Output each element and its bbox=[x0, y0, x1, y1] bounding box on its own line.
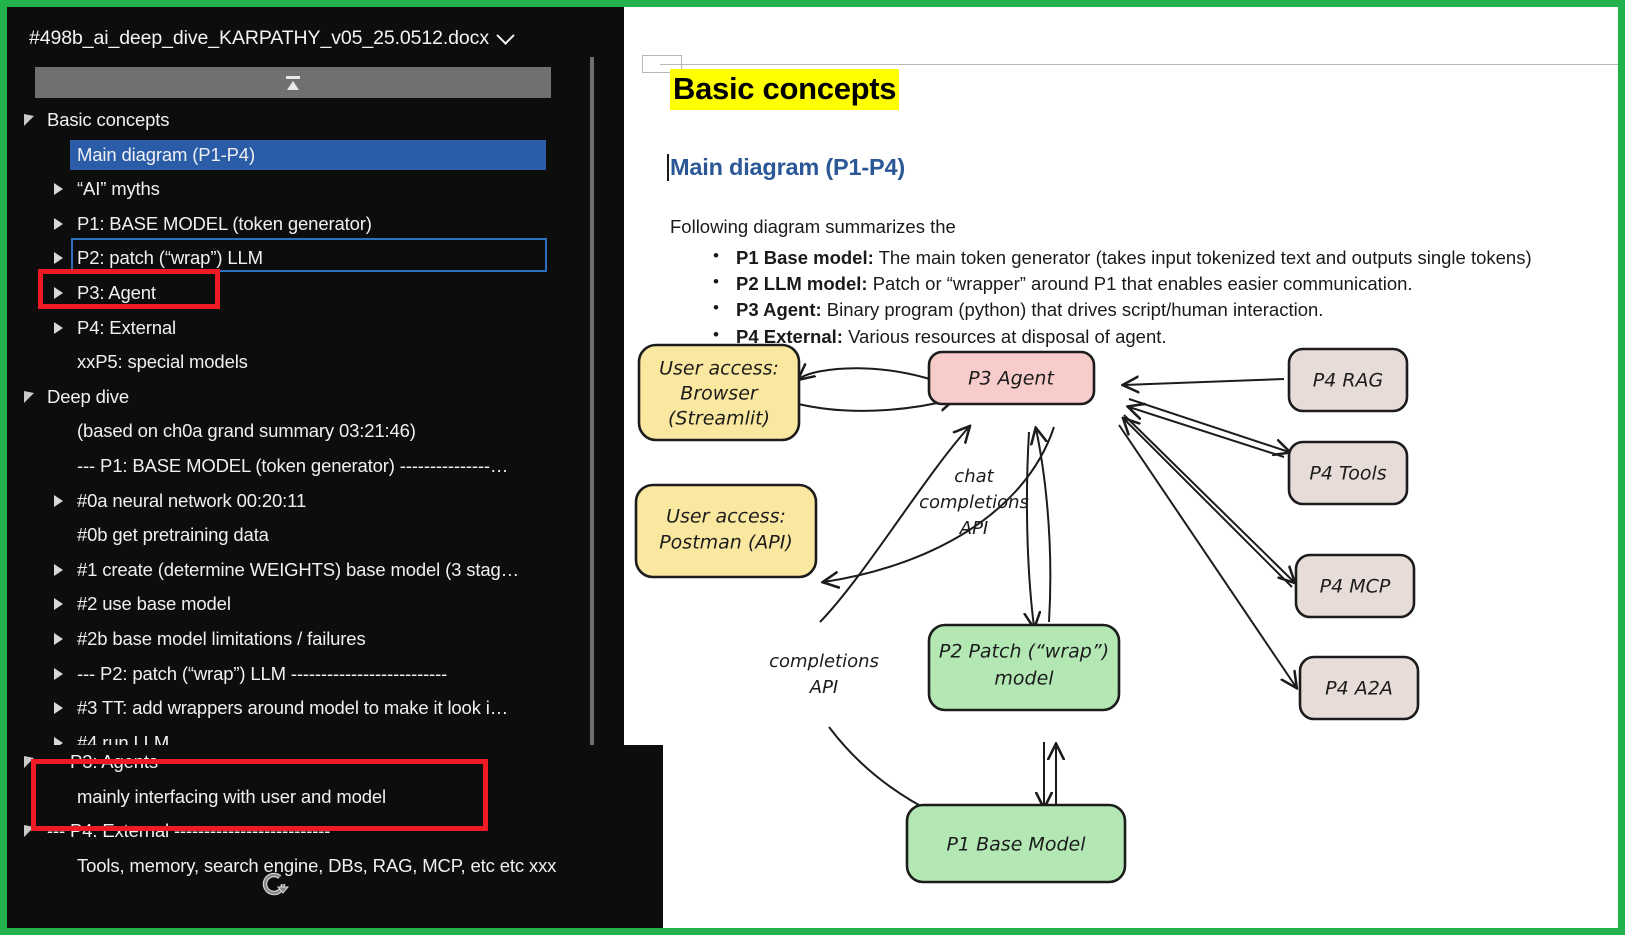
document-name-label: #498b_ai_deep_dive_KARPATHY_v05_25.0512.… bbox=[29, 27, 489, 50]
page-title: Basic concepts bbox=[670, 69, 899, 110]
nav-item-20[interactable]: mainly interfacing with user and model bbox=[7, 780, 663, 815]
nav-item-21[interactable]: --- P4: External -----------------------… bbox=[7, 814, 663, 849]
nav-item-12[interactable]: #0b get pretraining data bbox=[7, 518, 624, 553]
nav-item-10[interactable]: --- P1: BASE MODEL (token generator) ---… bbox=[7, 449, 624, 484]
bullet-term: P2 LLM model: bbox=[736, 273, 868, 294]
nav-item-22[interactable]: Tools, memory, search engine, DBs, RAG, … bbox=[7, 849, 663, 884]
nav-item-8[interactable]: Deep dive bbox=[7, 380, 624, 415]
twisty-collapsed-icon[interactable] bbox=[49, 318, 69, 338]
nav-item-label: #0b get pretraining data bbox=[77, 526, 269, 545]
nav-item-label: Deep dive bbox=[47, 388, 129, 407]
bullet-text: The main token generator (takes input to… bbox=[874, 247, 1532, 268]
navigation-scrollbar-thumb[interactable] bbox=[590, 57, 594, 747]
twisty-collapsed-icon[interactable] bbox=[49, 248, 69, 268]
nav-item-label: #2b base model limitations / failures bbox=[77, 630, 366, 649]
chevron-down-icon[interactable] bbox=[496, 26, 514, 44]
twisty-collapsed-icon[interactable] bbox=[49, 698, 69, 718]
nav-item-label: xxP5: special models bbox=[77, 353, 248, 372]
nav-item-9[interactable]: (based on ch0a grand summary 03:21:46) bbox=[7, 414, 624, 449]
application-window: #498b_ai_deep_dive_KARPATHY_v05_25.0512.… bbox=[0, 0, 1625, 935]
nav-item-0[interactable]: Basic concepts bbox=[7, 103, 624, 138]
twisty-collapsed-icon[interactable] bbox=[49, 179, 69, 199]
node-postman-line1: User access: bbox=[666, 506, 786, 528]
nav-item-label: P4: External bbox=[77, 319, 176, 338]
edge-browser-to-agent bbox=[794, 399, 954, 411]
edge-agent-to-p2 bbox=[1027, 432, 1034, 627]
bullet-term: P3 Agent: bbox=[736, 299, 822, 320]
bullet-text: Patch or “wrapper” around P1 that enable… bbox=[868, 273, 1413, 294]
node-postman-line2: Postman (API) bbox=[659, 532, 793, 554]
ruler-line bbox=[660, 64, 1625, 65]
nav-item-label: Basic concepts bbox=[47, 111, 169, 130]
node-a2a-label: P4 A2A bbox=[1325, 678, 1393, 700]
diagram-edges bbox=[794, 368, 1296, 837]
nav-item-6[interactable]: P4: External bbox=[7, 311, 624, 346]
nav-item-17[interactable]: #3 TT: add wrappers around model to make… bbox=[7, 691, 624, 726]
intro-paragraph: Following diagram summarizes the bbox=[670, 216, 1625, 238]
collapse-all-icon bbox=[285, 76, 301, 90]
bullet-list: P1 Base model: The main token generator … bbox=[670, 245, 1625, 350]
nav-item-2[interactable]: “AI” myths bbox=[7, 172, 624, 207]
twisty-collapsed-icon[interactable] bbox=[49, 629, 69, 649]
twisty-expanded-icon[interactable] bbox=[21, 387, 41, 407]
edge-postman-to-agent bbox=[820, 427, 969, 622]
document-pane[interactable]: Basic concepts Main diagram (P1-P4) Foll… bbox=[624, 7, 1625, 935]
node-p2-line2: model bbox=[994, 668, 1054, 690]
nav-item-label: P3: Agent bbox=[77, 284, 156, 303]
nav-item-label: mainly interfacing with user and model bbox=[77, 788, 386, 807]
edge-tools-to-agent bbox=[1129, 407, 1284, 457]
nav-item-label: --- P3: Agents -------------------------… bbox=[47, 753, 325, 772]
label-completions-api-line1: completions bbox=[769, 651, 879, 672]
node-agent-label: P3 Agent bbox=[968, 368, 1055, 390]
edge-p2-to-agent bbox=[1036, 429, 1050, 622]
nav-item-label: (based on ch0a grand summary 03:21:46) bbox=[77, 422, 416, 441]
nav-item-14[interactable]: #2 use base model bbox=[7, 587, 624, 622]
nav-item-5[interactable]: P3: Agent bbox=[7, 276, 624, 311]
diagram-svg: User access: Browser (Streamlit) User ac… bbox=[624, 337, 1625, 935]
node-browser-line3: (Streamlit) bbox=[668, 408, 770, 430]
nav-item-label: --- P1: BASE MODEL (token generator) ---… bbox=[77, 457, 508, 476]
node-p2-line1: P2 Patch (“wrap”) bbox=[939, 641, 1109, 663]
nav-item-13[interactable]: #1 create (determine WEIGHTS) base model… bbox=[7, 553, 624, 588]
twisty-collapsed-icon[interactable] bbox=[49, 283, 69, 303]
heading1-wrapper: Basic concepts bbox=[670, 69, 1625, 110]
node-browser-line2: Browser bbox=[680, 383, 759, 405]
nav-item-4[interactable]: P2: patch (“wrap”) LLM bbox=[7, 241, 624, 276]
nav-item-16[interactable]: --- P2: patch (“wrap”) LLM -------------… bbox=[7, 657, 624, 692]
nav-item-label: --- P2: patch (“wrap”) LLM -------------… bbox=[77, 665, 447, 684]
nav-item-label: #3 TT: add wrappers around model to make… bbox=[77, 699, 508, 718]
label-chat-api-line1: chat bbox=[954, 466, 994, 487]
nav-item-label: P2: patch (“wrap”) LLM bbox=[77, 249, 263, 268]
twisty-expanded-icon[interactable] bbox=[21, 821, 41, 841]
twisty-expanded-icon[interactable] bbox=[21, 752, 41, 772]
document-body[interactable]: Basic concepts Main diagram (P1-P4) Foll… bbox=[670, 69, 1625, 350]
label-completions-api-line2: API bbox=[809, 677, 838, 698]
nav-item-label: #2 use base model bbox=[77, 595, 231, 614]
main-diagram: User access: Browser (Streamlit) User ac… bbox=[624, 337, 1625, 935]
diagram-nodes: User access: Browser (Streamlit) User ac… bbox=[636, 345, 1418, 882]
nav-item-label: #0a neural network 00:20:11 bbox=[77, 492, 306, 511]
twisty-collapsed-icon[interactable] bbox=[49, 491, 69, 511]
twisty-expanded-icon[interactable] bbox=[21, 110, 41, 130]
node-tools-label: P4 Tools bbox=[1309, 463, 1386, 485]
label-chat-api-line3: API bbox=[959, 518, 988, 539]
bullet-item: P3 Agent: Binary program (python) that d… bbox=[670, 297, 1625, 323]
nav-item-1[interactable]: Main diagram (P1-P4) bbox=[7, 138, 624, 173]
node-browser-line1: User access: bbox=[659, 358, 779, 380]
label-chat-api-line2: completions bbox=[919, 492, 1029, 513]
nav-item-19[interactable]: --- P3: Agents -------------------------… bbox=[7, 745, 663, 780]
bullet-text: Binary program (python) that drives scri… bbox=[822, 299, 1324, 320]
bullet-term: P1 Base model: bbox=[736, 247, 874, 268]
bullet-item: P2 LLM model: Patch or “wrapper” around … bbox=[670, 271, 1625, 297]
nav-item-3[interactable]: P1: BASE MODEL (token generator) bbox=[7, 207, 624, 242]
edge-rag-to-agent bbox=[1124, 379, 1284, 385]
nav-item-label: Main diagram (P1-P4) bbox=[77, 146, 255, 165]
nav-item-7[interactable]: xxP5: special models bbox=[7, 345, 624, 380]
twisty-collapsed-icon[interactable] bbox=[49, 560, 69, 580]
nav-item-11[interactable]: #0a neural network 00:20:11 bbox=[7, 484, 624, 519]
collapse-all-button[interactable] bbox=[35, 67, 551, 98]
twisty-collapsed-icon[interactable] bbox=[49, 214, 69, 234]
node-rag-label: P4 RAG bbox=[1313, 370, 1384, 392]
node-mcp-label: P4 MCP bbox=[1320, 576, 1391, 598]
navigation-tree[interactable]: Basic conceptsMain diagram (P1-P4)“AI” m… bbox=[7, 103, 624, 760]
nav-item-15[interactable]: #2b base model limitations / failures bbox=[7, 622, 624, 657]
node-p1-label: P1 Base Model bbox=[947, 834, 1087, 856]
nav-item-label: --- P4: External -----------------------… bbox=[47, 822, 330, 841]
twisty-collapsed-icon[interactable] bbox=[49, 664, 69, 684]
navigation-tree-lower[interactable]: --- P3: Agents -------------------------… bbox=[7, 745, 663, 935]
nav-item-label: Tools, memory, search engine, DBs, RAG, … bbox=[77, 857, 556, 876]
nav-item-label: P1: BASE MODEL (token generator) bbox=[77, 215, 372, 234]
document-name-dropdown[interactable]: #498b_ai_deep_dive_KARPATHY_v05_25.0512.… bbox=[29, 21, 589, 55]
edge-agent-to-a2a bbox=[1119, 425, 1296, 687]
nav-item-label: #1 create (determine WEIGHTS) base model… bbox=[77, 561, 519, 580]
bullet-item: P1 Base model: The main token generator … bbox=[670, 245, 1625, 271]
twisty-collapsed-icon[interactable] bbox=[49, 594, 69, 614]
nav-item-label: “AI” myths bbox=[77, 180, 160, 199]
section-heading: Main diagram (P1-P4) bbox=[670, 154, 1625, 181]
